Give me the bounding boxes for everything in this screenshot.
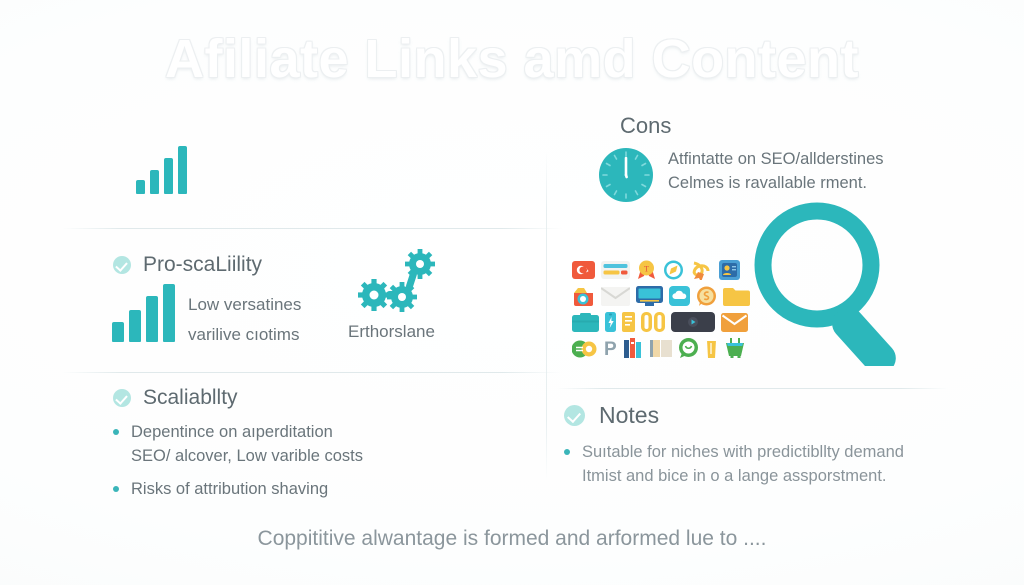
book-open-icon bbox=[650, 340, 672, 357]
mail-icon bbox=[721, 313, 748, 332]
divider-vertical-center bbox=[546, 150, 547, 480]
ribbon-icon bbox=[690, 260, 713, 280]
credit-card-icon bbox=[601, 261, 630, 279]
scalability-heading-row: Scaliabllty bbox=[113, 386, 238, 410]
check-circle-icon bbox=[113, 256, 131, 274]
pro-scalability-heading: Pro-scaLiility bbox=[143, 253, 262, 277]
money-badge-icon bbox=[572, 339, 597, 358]
cons-text-lines: Atfintatte on SEO/allderstines Celmes is… bbox=[668, 147, 938, 195]
bullet-dot-icon bbox=[564, 449, 570, 455]
medal-icon: T bbox=[636, 260, 657, 280]
camera-icon bbox=[572, 286, 595, 306]
list-item-text: Depentince on aıperditation SEO/ alcover… bbox=[131, 420, 363, 468]
divider-right-middle bbox=[556, 388, 948, 389]
gears-chain-icon bbox=[358, 248, 436, 320]
cloud-icon bbox=[669, 286, 690, 306]
pro-scalability-heading-row: Pro-scaLiility bbox=[113, 253, 262, 277]
notes-heading-row: Notes bbox=[564, 402, 659, 429]
divider-left-top bbox=[62, 228, 562, 229]
envelope-icon bbox=[601, 287, 630, 306]
svg-text:P: P bbox=[604, 339, 617, 358]
scalability-heading: Scaliabllty bbox=[143, 386, 238, 410]
parking-icon: P bbox=[603, 338, 618, 358]
app-icons-grid: T P bbox=[572, 260, 750, 358]
scalability-bullet-list: Depentince on aıperditation SEO/ alcover… bbox=[113, 420, 443, 510]
bullet-dot-icon bbox=[113, 429, 119, 435]
page-title: Afiliate Links amd Content bbox=[0, 28, 1024, 90]
cup-icon bbox=[705, 338, 718, 358]
check-circle-icon bbox=[113, 389, 131, 407]
flag-badge-icon bbox=[572, 261, 595, 279]
pro-line-1: Low versatines bbox=[188, 290, 358, 320]
magnifier-wrap bbox=[750, 198, 922, 371]
tickets-icon bbox=[641, 312, 665, 332]
battery-icon bbox=[605, 312, 616, 332]
list-item: Suıtable for niches with predictibllty d… bbox=[564, 440, 934, 488]
document-icon bbox=[622, 312, 635, 332]
gears-icon-wrap bbox=[358, 248, 436, 325]
folder-icon bbox=[723, 287, 750, 306]
list-item: Risks of attribution shaving bbox=[113, 477, 443, 501]
clock-icon bbox=[598, 147, 654, 203]
wallet-icon bbox=[572, 313, 599, 332]
bullet-dot-icon bbox=[113, 486, 119, 492]
left-top-chart bbox=[136, 146, 187, 194]
footer-caption: Coppititive alwantage is formed and arfo… bbox=[0, 527, 1024, 551]
monitor-icon bbox=[636, 286, 663, 306]
pro-chart-icon-wrap bbox=[112, 284, 175, 342]
pro-text-lines: Low versatines varilive cıotims bbox=[188, 290, 358, 350]
notes-bullet-list: Suıtable for niches with predictibllty d… bbox=[564, 440, 934, 497]
cart-icon bbox=[724, 338, 746, 358]
svg-text:T: T bbox=[644, 265, 649, 274]
notes-heading: Notes bbox=[599, 402, 659, 429]
check-circle-icon bbox=[564, 405, 585, 426]
compass-icon bbox=[663, 260, 684, 280]
books-icon bbox=[624, 338, 644, 358]
slide-canvas: Afiliate Links amd Content Pro-scaLiilit… bbox=[0, 0, 1024, 585]
gears-icon-label: Erthorslane bbox=[348, 320, 435, 344]
list-item-text: Suıtable for niches with predictibllty d… bbox=[582, 440, 904, 488]
bar-chart-icon bbox=[112, 284, 175, 342]
footer-caption-text: Coppititive alwantage is formed and arfo… bbox=[258, 527, 767, 550]
cons-heading: Cons bbox=[620, 113, 671, 139]
list-item-text: Risks of attribution shaving bbox=[131, 477, 328, 501]
cons-line-1: Atfintatte on SEO/allderstines bbox=[668, 147, 938, 171]
cons-line-2: Celmes is ravallable rment. bbox=[668, 171, 938, 195]
coin-chat-icon bbox=[696, 286, 717, 306]
pro-line-2: varilive cıotims bbox=[188, 320, 358, 350]
magnifying-glass-icon bbox=[750, 198, 922, 366]
clock-icon-wrap bbox=[598, 147, 654, 208]
divider-left-middle bbox=[62, 372, 562, 373]
chat-icon bbox=[678, 338, 699, 358]
contact-card-icon bbox=[719, 260, 740, 280]
phone-icon bbox=[671, 312, 715, 332]
list-item: Depentince on aıperditation SEO/ alcover… bbox=[113, 420, 443, 468]
bar-chart-icon bbox=[136, 146, 187, 194]
